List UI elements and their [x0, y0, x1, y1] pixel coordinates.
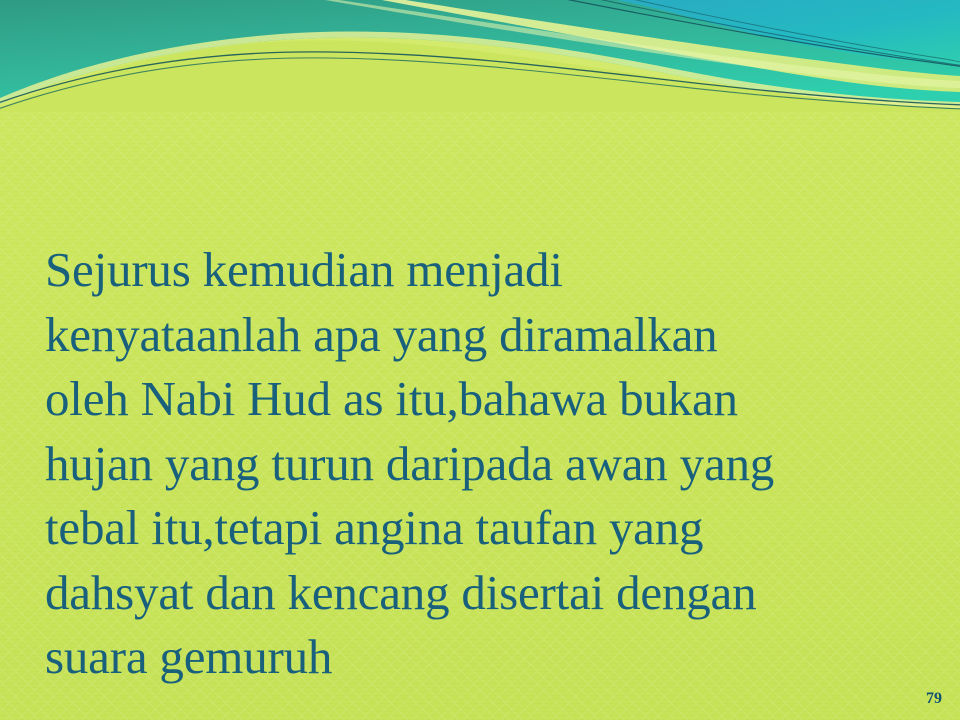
wave-banner-svg	[0, 0, 960, 112]
body-line-5: tebal itu,tetapi angina taufan yang	[45, 496, 935, 561]
wave-banner-graphic	[0, 0, 960, 112]
slide-body-text: Sejurus kemudian menjadi kenyataanlah ap…	[45, 238, 935, 690]
body-line-3: oleh Nabi Hud as itu,bahawa bukan	[45, 367, 935, 432]
body-line-2: kenyataanlah apa yang diramalkan	[45, 303, 935, 368]
body-line-7: suara gemuruh	[45, 625, 935, 690]
body-line-4: hujan yang turun daripada awan yang	[45, 432, 935, 497]
body-line-6: dahsyat dan kencang disertai dengan	[45, 561, 935, 626]
slide-number: 79	[926, 690, 942, 708]
body-line-1: Sejurus kemudian menjadi	[45, 238, 935, 303]
presentation-slide: Sejurus kemudian menjadi kenyataanlah ap…	[0, 0, 960, 720]
